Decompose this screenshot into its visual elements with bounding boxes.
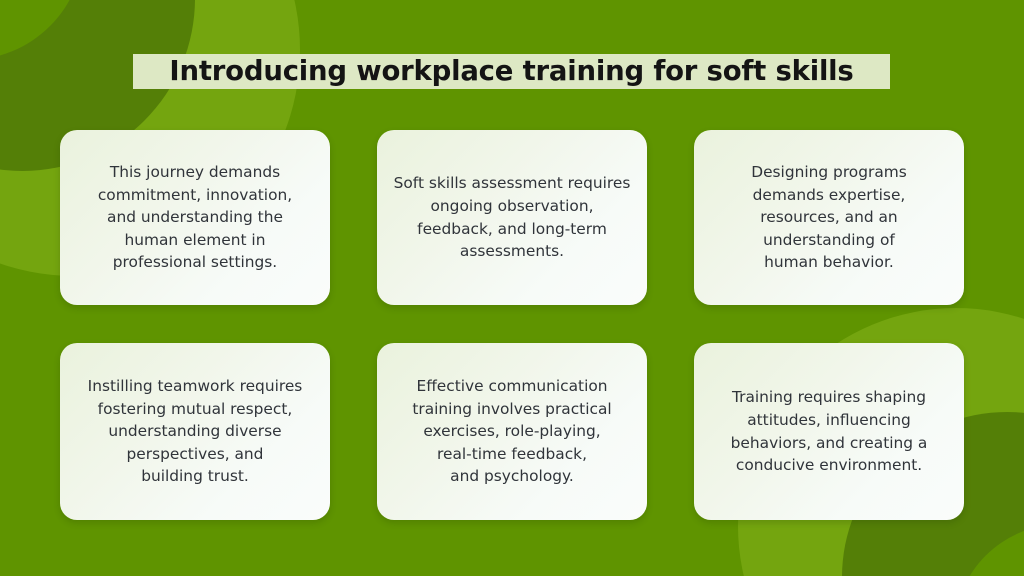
decorative-arc-bottom-right-core: [954, 524, 1024, 576]
title-highlight-band: Introducing workplace training for soft …: [133, 54, 890, 89]
content-card-designing-programs: Designing programs demands expertise, re…: [694, 130, 964, 305]
content-card-effective-communication: Effective communication training involve…: [377, 343, 647, 520]
card-text: Effective communication training involve…: [412, 375, 611, 488]
card-text: Soft skills assessment requires ongoing …: [394, 172, 631, 262]
decorative-arc-top-left-core: [0, 0, 84, 60]
card-text: This journey demands commitment, innovat…: [98, 161, 292, 274]
card-text: Instilling teamwork requires fostering m…: [88, 375, 303, 488]
content-card-instilling-teamwork: Instilling teamwork requires fostering m…: [60, 343, 330, 520]
content-card-journey-demands: This journey demands commitment, innovat…: [60, 130, 330, 305]
slide-canvas: Introducing workplace training for soft …: [0, 0, 1024, 576]
content-card-soft-skills-assessment: Soft skills assessment requires ongoing …: [377, 130, 647, 305]
card-text: Training requires shaping attitudes, inf…: [731, 386, 928, 476]
page-title: Introducing workplace training for soft …: [169, 58, 853, 86]
card-text: Designing programs demands expertise, re…: [751, 161, 907, 274]
card-grid: This journey demands commitment, innovat…: [60, 130, 964, 520]
content-card-training-shaping-attitudes: Training requires shaping attitudes, inf…: [694, 343, 964, 520]
